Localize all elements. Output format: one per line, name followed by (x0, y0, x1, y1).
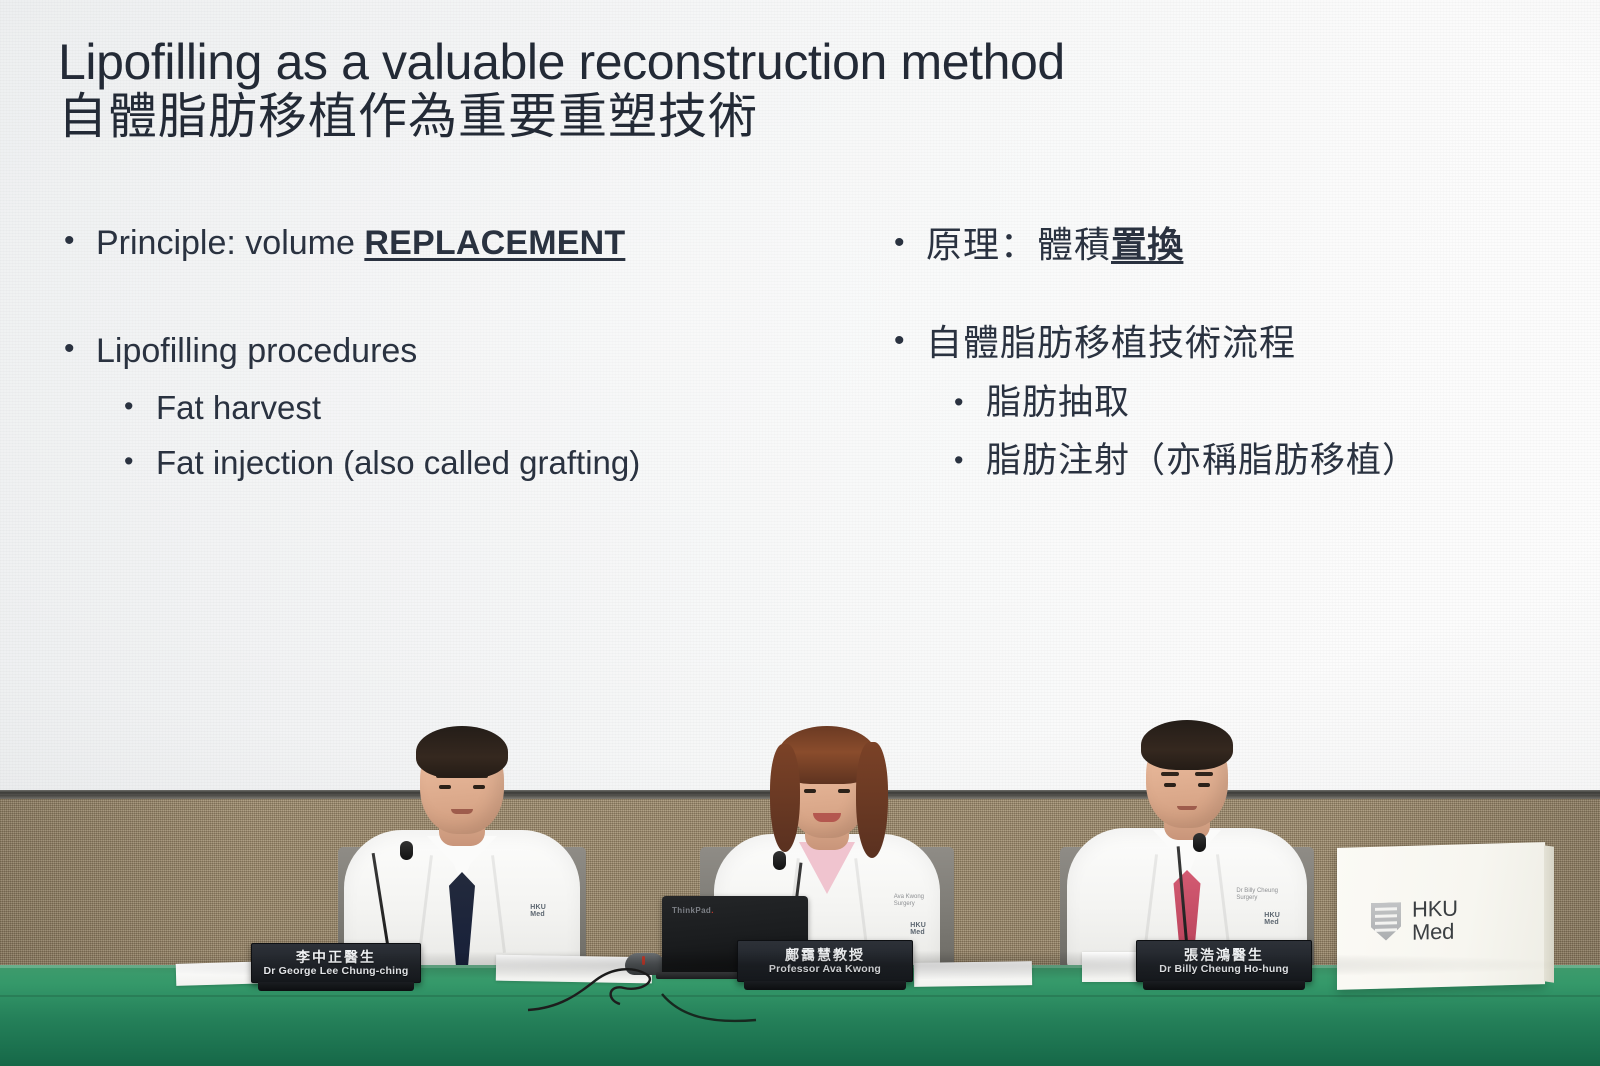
coat-name-embroidery-right: Dr Billy CheungSurgery (1236, 888, 1278, 902)
nameplate-right: 張浩鴻醫生 Dr Billy Cheung Ho-hung (1136, 940, 1312, 982)
projection-screen: Lipofilling as a valuable reconstruction… (0, 0, 1600, 795)
eye-left-1 (439, 785, 451, 789)
microphone-head-left (400, 841, 413, 860)
nameplate-left-name-en: Dr George Lee Chung-ching (263, 965, 408, 977)
slide-title: Lipofilling as a valuable reconstruction… (58, 36, 1308, 145)
bullet-procedures-zh: 自體脂肪移植技術流程 (888, 320, 1548, 366)
table-cable-right (660, 990, 780, 1050)
nameplate-right-name-en: Dr Billy Cheung Ho-hung (1159, 963, 1288, 975)
nameplate-center-stand (744, 981, 906, 990)
eye-right-2 (1198, 783, 1210, 787)
mouth-center-smiling (813, 813, 841, 822)
hku-med-badge-left: HKUMed (530, 904, 546, 918)
eye-left-2 (473, 785, 485, 789)
nameplate-left: 李中正醫生 Dr George Lee Chung-ching (251, 943, 421, 983)
hair-left (416, 726, 508, 778)
bullet-principle-zh-emphasis: 置換 (1111, 224, 1183, 265)
laptop-brand-text: ThinkPad (672, 906, 711, 915)
bullet-principle-zh-text: 原理：體積 (926, 224, 1111, 265)
microphone-head-right (1193, 833, 1206, 852)
sub-bullet-fat-injection-zh: 脂肪注射（亦稱脂肪移植） (888, 432, 1548, 490)
bullet-principle-zh: 原理：體積置換 (888, 222, 1548, 268)
hku-med-badge-center: HKUMed (910, 922, 926, 936)
microphone-head-center (773, 851, 786, 870)
eye-center-2 (838, 789, 850, 793)
signboard-line-1: HKU (1412, 897, 1458, 921)
eyebrow-right-1 (1161, 772, 1179, 776)
hku-med-badge-right: HKUMed (1264, 912, 1280, 926)
signboard-wordmark: HKU Med (1412, 897, 1458, 944)
coat-name-embroidery-center: Ava KwongSurgery (894, 894, 924, 908)
sub-bullet-fat-harvest: Fat harvest (58, 380, 858, 435)
press-conference-photo: Lipofilling as a valuable reconstruction… (0, 0, 1600, 1066)
nameplate-left-stand (258, 982, 414, 991)
sub-bullet-fat-injection: Fat injection (also called grafting) (58, 435, 858, 490)
hku-crest-icon (1371, 902, 1401, 941)
nameplate-left-name-zh: 李中正醫生 (296, 950, 376, 965)
nameplate-center-name-en: Professor Ava Kwong (769, 963, 881, 975)
eye-center-1 (804, 789, 816, 793)
table-edge-highlight (0, 995, 1600, 997)
bullet-principle-en-text: Principle: volume (96, 224, 364, 262)
eye-right-1 (1164, 783, 1176, 787)
hair-strand-center-left (770, 744, 800, 852)
bullet-principle-en-emphasis: REPLACEMENT (364, 224, 625, 262)
spacer-right (888, 276, 1548, 320)
nameplate-right-stand (1143, 981, 1305, 990)
signboard-line-2: Med (1412, 920, 1458, 944)
hair-strand-center-right (856, 742, 888, 858)
eyebrow-right-2 (1195, 772, 1213, 776)
mouth-right (1177, 806, 1197, 810)
nameplate-right-name-zh: 張浩鴻醫生 (1184, 948, 1264, 963)
signboard-logo-lockup: HKU Med (1371, 897, 1458, 945)
slide-column-chinese: 原理：體積置換 自體脂肪移植技術流程 脂肪抽取 脂肪注射（亦稱脂肪移植） (888, 222, 1548, 490)
spacer-left (58, 272, 858, 330)
signboard-side-face (1544, 845, 1554, 982)
laptop-brand-label: ThinkPad. (672, 906, 714, 915)
bullet-principle-en: Principle: volume REPLACEMENT (58, 222, 858, 264)
slide-title-zh: 自體脂肪移植作為重要重塑技術 (58, 89, 1308, 145)
hair-right (1141, 720, 1233, 770)
nameplate-center-name-zh: 鄺靄慧教授 (785, 948, 865, 963)
sub-bullet-fat-harvest-zh: 脂肪抽取 (888, 374, 1548, 432)
slide-title-en: Lipofilling as a valuable reconstruction… (58, 34, 1065, 90)
nameplate-center: 鄺靄慧教授 Professor Ava Kwong (737, 940, 913, 982)
slide-column-english: Principle: volume REPLACEMENT Lipofillin… (58, 222, 858, 490)
hku-med-signboard: HKU Med (1337, 842, 1545, 990)
bullet-procedures-en: Lipofilling procedures (58, 330, 858, 372)
presentation-slide: Lipofilling as a valuable reconstruction… (0, 0, 1600, 795)
mouth-left (451, 809, 473, 814)
paper-stack-center (914, 961, 1032, 987)
